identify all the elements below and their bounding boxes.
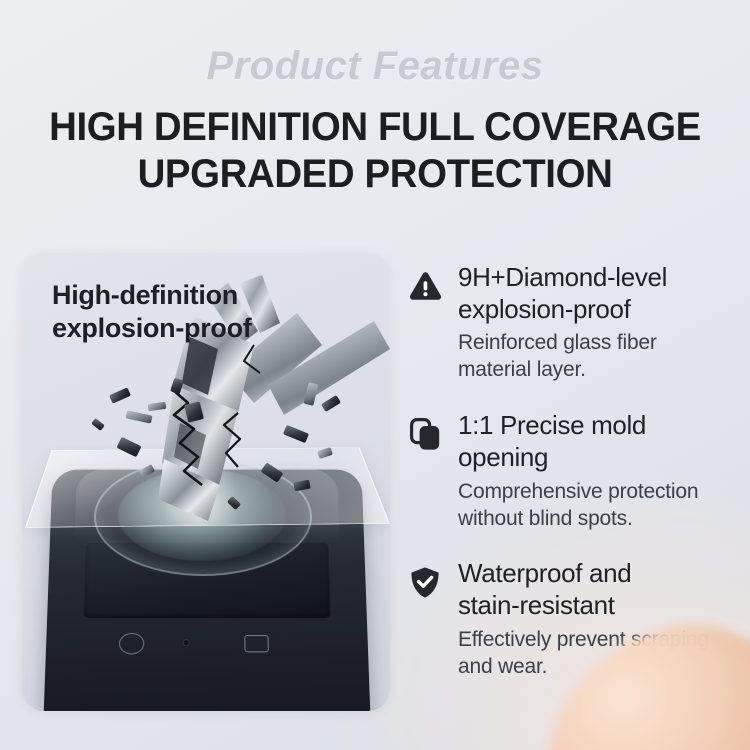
- headline-line-2: UPGRADED PROTECTION: [15, 151, 735, 198]
- feature-title: 9H+Diamond-level explosion-proof: [458, 262, 750, 325]
- feature-desc-line-2: without blind spots.: [458, 507, 633, 530]
- header-block: Product Features HIGH DEFINITION FULL CO…: [0, 0, 750, 198]
- product-features-infographic: Product Features HIGH DEFINITION FULL CO…: [0, 0, 750, 750]
- feature-title-line-2: stain-resistant: [458, 590, 615, 620]
- feature-desc-line-1: Comprehensive protection: [458, 480, 698, 503]
- feature-title-line-1: Waterproof and: [458, 558, 631, 588]
- feature-desc-line-1: Reinforced glass fiber: [458, 331, 657, 354]
- headline-line-1: HIGH DEFINITION FULL COVERAGE: [49, 105, 701, 149]
- feature-title-line-2: explosion-proof: [458, 294, 631, 324]
- feature-list: 9H+Diamond-level explosion-proof Reinfor…: [408, 262, 750, 681]
- warning-triangle-icon: [408, 269, 442, 303]
- shield-check-icon: [408, 565, 442, 599]
- eyebrow-title: Product Features: [0, 44, 750, 88]
- showcase-caption-line-1: High-definition: [52, 280, 238, 310]
- feature-title: 1:1 Precise mold opening: [458, 410, 750, 473]
- feature-title-line-1: 1:1 Precise mold: [458, 410, 646, 440]
- feature-title-line-2: opening: [458, 442, 548, 472]
- feature-item: 1:1 Precise mold opening Comprehensive p…: [408, 410, 750, 532]
- layers-copy-icon: [408, 417, 442, 451]
- feature-title: Waterproof and stain-resistant: [458, 558, 750, 621]
- feature-desc-line-2: and wear.: [458, 655, 547, 678]
- feature-description: Reinforced glass fiber material layer.: [458, 330, 750, 384]
- page-title: HIGH DEFINITION FULL COVERAGE UPGRADED P…: [15, 104, 735, 198]
- showcase-card: High-definition explosion-proof: [22, 253, 390, 711]
- feature-desc-line-2: material layer.: [458, 358, 586, 381]
- feature-title-line-1: 9H+Diamond-level: [458, 262, 667, 292]
- feature-description: Comprehensive protection without blind s…: [458, 479, 750, 533]
- showcase-caption: High-definition explosion-proof: [52, 279, 252, 345]
- feature-item: 9H+Diamond-level explosion-proof Reinfor…: [408, 262, 750, 384]
- showcase-caption-line-2: explosion-proof: [52, 312, 252, 345]
